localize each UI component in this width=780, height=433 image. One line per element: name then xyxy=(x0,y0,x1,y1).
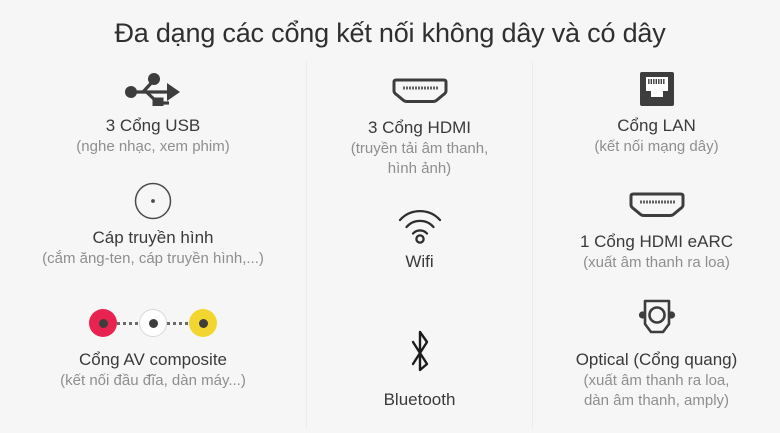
feature-label: 3 Cổng HDMI xyxy=(307,117,532,139)
av-plug-yellow xyxy=(189,309,217,337)
feature-optical: Optical (Cổng quang) (xuất âm thanh ra l… xyxy=(533,294,780,411)
wifi-icon xyxy=(307,204,532,246)
feature-av-composite: Cổng AV composite (kết nối đầu đĩa, dàn … xyxy=(0,302,306,391)
coaxial-cable-icon xyxy=(0,180,306,222)
bluetooth-icon xyxy=(307,324,532,384)
feature-sub: (kết nối mạng dây) xyxy=(533,137,780,157)
feature-sub-line: (nghe nhạc, xem phim) xyxy=(0,137,306,157)
usb-icon xyxy=(0,68,306,110)
feature-sub: (kết nối đầu đĩa, dàn máy...) xyxy=(0,371,306,391)
feature-label: Optical (Cổng quang) xyxy=(533,349,780,371)
feature-label: Wifi xyxy=(307,251,532,273)
feature-sub-line: (cắm ăng-ten, cáp truyền hình,...) xyxy=(0,249,306,269)
feature-label: Cổng LAN xyxy=(533,115,780,137)
feature-sub: (nghe nhạc, xem phim) xyxy=(0,137,306,157)
feature-bluetooth: Bluetooth xyxy=(307,324,532,411)
feature-label: 3 Cổng USB xyxy=(0,115,306,137)
feature-sub: (xuất âm thanh ra loa, dàn âm thanh, amp… xyxy=(533,371,780,411)
feature-sub-line: (xuất âm thanh ra loa, xyxy=(533,371,780,391)
feature-coaxial: Cáp truyền hình (cắm ăng-ten, cáp truyền… xyxy=(0,180,306,269)
column-center: 3 Cổng HDMI (truyền tải âm thanh, hình ả… xyxy=(307,62,532,433)
feature-sub: (truyền tải âm thanh, hình ảnh) xyxy=(307,139,532,179)
column-right: Cổng LAN (kết nối mạng dây) 1 Cổng HDMI … xyxy=(533,62,780,433)
optical-port-icon xyxy=(533,294,780,344)
hdmi-earc-icon xyxy=(533,184,780,226)
feature-sub-line: (xuất âm thanh ra loa) xyxy=(533,253,780,273)
feature-lan: Cổng LAN (kết nối mạng dây) xyxy=(533,68,780,157)
av-link xyxy=(167,322,189,325)
av-plug-red xyxy=(89,309,117,337)
feature-label: Bluetooth xyxy=(307,389,532,411)
connectivity-infographic: Đa dạng các cổng kết nối không dây và có… xyxy=(0,0,780,433)
feature-wifi: Wifi xyxy=(307,204,532,273)
feature-sub-line: (truyền tải âm thanh, xyxy=(307,139,532,159)
page-title: Đa dạng các cổng kết nối không dây và có… xyxy=(0,18,780,49)
feature-hdmi-earc: 1 Cổng HDMI eARC (xuất âm thanh ra loa) xyxy=(533,184,780,273)
feature-sub-line: hình ảnh) xyxy=(307,159,532,179)
av-plug-white xyxy=(139,309,167,337)
column-left: 3 Cổng USB (nghe nhạc, xem phim) Cáp tru… xyxy=(0,62,306,433)
feature-sub: (cắm ăng-ten, cáp truyền hình,...) xyxy=(0,249,306,269)
feature-sub-line: dàn âm thanh, amply) xyxy=(533,391,780,411)
feature-sub: (xuất âm thanh ra loa) xyxy=(533,253,780,273)
av-composite-icon xyxy=(0,302,306,344)
feature-sub-line: (kết nối đầu đĩa, dàn máy...) xyxy=(0,371,306,391)
feature-usb: 3 Cổng USB (nghe nhạc, xem phim) xyxy=(0,68,306,157)
feature-hdmi: 3 Cổng HDMI (truyền tải âm thanh, hình ả… xyxy=(307,70,532,179)
hdmi-port-icon xyxy=(307,70,532,112)
lan-rj45-icon xyxy=(533,68,780,110)
feature-label: 1 Cổng HDMI eARC xyxy=(533,231,780,253)
av-link xyxy=(117,322,139,325)
feature-label: Cáp truyền hình xyxy=(0,227,306,249)
feature-label: Cổng AV composite xyxy=(0,349,306,371)
feature-sub-line: (kết nối mạng dây) xyxy=(533,137,780,157)
